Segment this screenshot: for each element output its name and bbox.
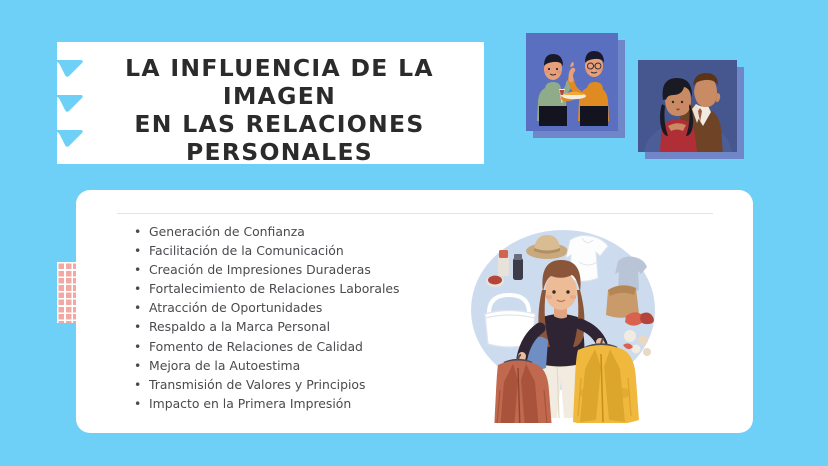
list-item: Transmisión de Valores y Principios <box>134 375 400 394</box>
presentation-slide: LA INFLUENCIA DE LA IMAGEN EN LAS RELACI… <box>0 0 828 466</box>
couple-portrait-illustration <box>638 60 737 152</box>
notch-arrow-icon <box>57 130 84 147</box>
notch-arrow-icon <box>57 95 84 112</box>
title-card: LA INFLUENCIA DE LA IMAGEN EN LAS RELACI… <box>57 42 484 164</box>
list-item: Generación de Confianza <box>134 222 400 241</box>
list-item: Respaldo a la Marca Personal <box>134 317 400 336</box>
woman-shopping-clothes-illustration <box>458 218 668 423</box>
list-item: Mejora de la Autoestima <box>134 356 400 375</box>
list-item: Creación de Impresiones Duraderas <box>134 260 400 279</box>
notch-arrow-icon <box>57 60 84 77</box>
photo-frame <box>526 33 618 131</box>
list-item: Facilitación de la Comunicación <box>134 241 400 260</box>
divider <box>117 213 713 214</box>
benefits-list: Generación de Confianza Facilitación de … <box>134 222 400 413</box>
list-item: Atracción de Oportunidades <box>134 298 400 317</box>
list-item: Fomento de Relaciones de Calidad <box>134 337 400 356</box>
photo-frame <box>638 60 737 152</box>
page-title: LA INFLUENCIA DE LA IMAGEN EN LAS RELACI… <box>83 54 476 166</box>
list-item: Fortalecimiento de Relaciones Laborales <box>134 279 400 298</box>
two-friends-talking-illustration <box>526 33 618 131</box>
content-card: Generación de Confianza Facilitación de … <box>76 190 753 433</box>
list-item: Impacto en la Primera Impresión <box>134 394 400 413</box>
